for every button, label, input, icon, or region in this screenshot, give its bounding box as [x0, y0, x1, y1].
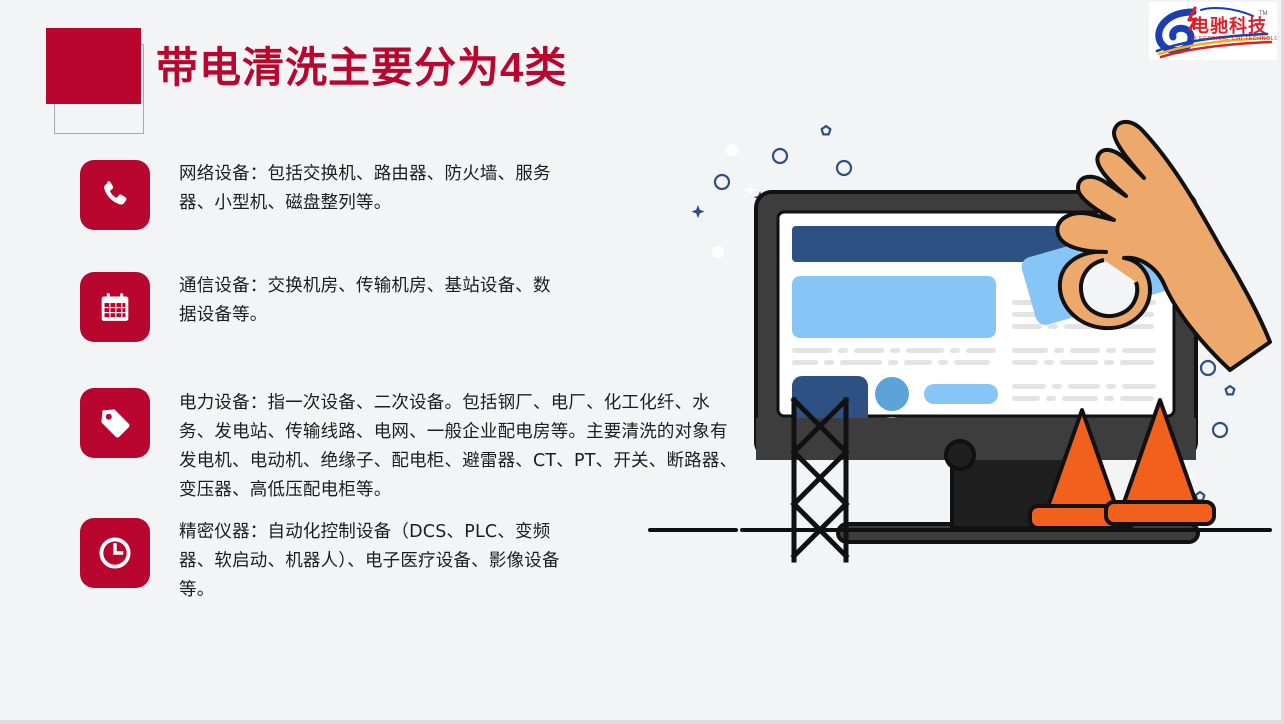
list-item: 精密仪器：自动化控制设备（DCS、PLC、变频器、软启动、机器人）、电子医疗设备… — [80, 518, 580, 605]
list-item: 网络设备：包括交换机、路由器、防火墙、服务器、小型机、磁盘整列等。 — [80, 160, 560, 230]
calendar-icon — [80, 272, 150, 342]
brand-logo: 电驰科技 ELECTRICAL CHI TECHNOLOGY TM — [1149, 2, 1277, 60]
tag-icon — [80, 388, 150, 458]
slide-canvas: 带电清洗主要分为4类 电驰科技 ELECTRICAL CHI TECHNOLOG… — [0, 0, 1284, 724]
power-button-icon — [946, 441, 974, 469]
page-title: 带电清洗主要分为4类 — [156, 36, 567, 100]
illustration-monitor-hand — [630, 100, 1284, 600]
logo-name-en: ELECTRICAL CHI TECHNOLOGY — [1191, 36, 1277, 42]
list-item-text: 网络设备：包括交换机、路由器、防火墙、服务器、小型机、磁盘整列等。 — [179, 160, 560, 218]
clock-icon — [80, 518, 150, 588]
logo-name-cn: 电驰科技 — [1191, 16, 1267, 36]
title-accent-square — [46, 28, 141, 104]
list-item-text: 精密仪器：自动化控制设备（DCS、PLC、变频器、软启动、机器人）、电子医疗设备… — [179, 518, 580, 605]
list-item-text: 通信设备：交换机房、传输机房、基站设备、数据设备等。 — [179, 272, 560, 330]
logo-trademark: TM — [1259, 11, 1268, 17]
list-item: 通信设备：交换机房、传输机房、基站设备、数据设备等。 — [80, 272, 560, 342]
illustration-svg — [630, 100, 1284, 600]
screen-hero-block — [792, 276, 996, 338]
phone-icon — [80, 160, 150, 230]
